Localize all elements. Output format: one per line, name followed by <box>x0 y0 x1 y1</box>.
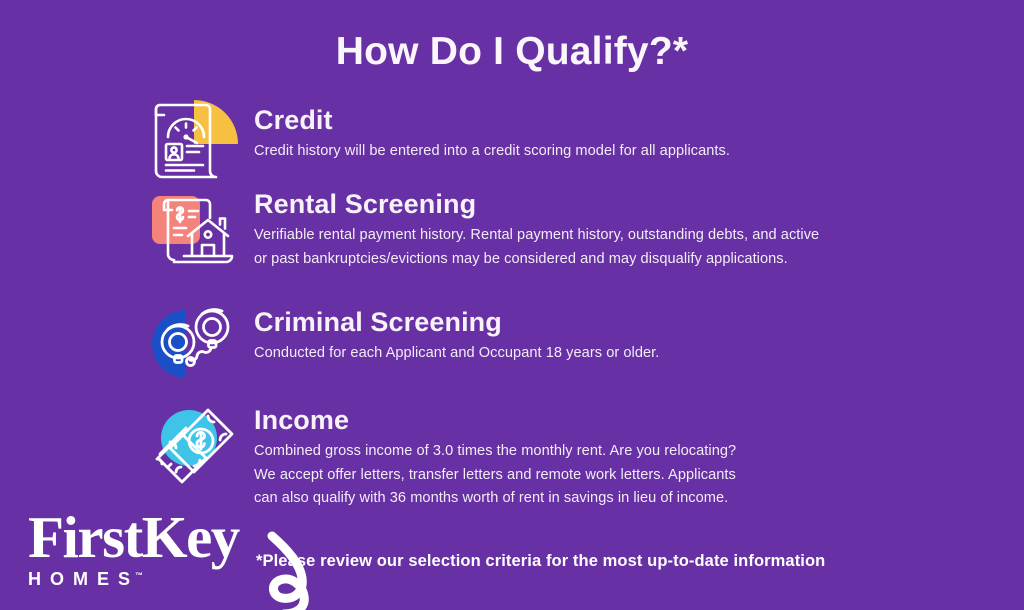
infographic-page: How Do I Qualify?* <box>0 0 1024 610</box>
selection-criteria-note: *Please review our selection criteria fo… <box>256 552 825 571</box>
description-line: or past bankruptcies/evictions may be co… <box>254 251 788 267</box>
description-line: We accept offer letters, transfer letter… <box>254 467 736 483</box>
section-description: Conducted for each Applicant and Occupan… <box>254 342 659 366</box>
trademark-symbol: ™ <box>135 571 143 580</box>
credit-report-gauge-icon <box>146 96 242 186</box>
logo-subtext-label: HOMES <box>28 569 139 589</box>
qualification-section-income: Income Combined gross income of 3.0 time… <box>146 396 736 511</box>
firstkey-homes-logo: FirstKey HOMES™ <box>28 506 288 610</box>
page-title: How Do I Qualify?* <box>0 30 1024 74</box>
logo-wordmark: FirstKey <box>28 506 288 568</box>
section-heading: Credit <box>254 106 730 134</box>
section-description: Combined gross income of 3.0 times the m… <box>254 440 736 511</box>
section-description: Verifiable rental payment history. Renta… <box>254 224 819 271</box>
rental-receipt-house-icon <box>146 182 242 272</box>
description-line: can also qualify with 36 months worth of… <box>254 490 728 506</box>
section-heading: Rental Screening <box>254 190 819 218</box>
qualification-section-criminal-screening: Criminal Screening Conducted for each Ap… <box>146 298 659 366</box>
description-line: Combined gross income of 3.0 times the m… <box>254 443 736 459</box>
banknotes-dollar-icon <box>146 396 242 486</box>
description-line: Conducted for each Applicant and Occupan… <box>254 345 659 361</box>
section-heading: Income <box>254 406 736 434</box>
description-line: Credit history will be entered into a cr… <box>254 143 730 159</box>
handcuffs-icon <box>146 298 242 388</box>
qualification-section-credit: Credit Credit history will be entered in… <box>146 96 730 164</box>
description-line: Verifiable rental payment history. Renta… <box>254 227 819 243</box>
qualification-section-rental-screening: Rental Screening Verifiable rental payme… <box>146 182 819 271</box>
section-description: Credit history will be entered into a cr… <box>254 140 730 164</box>
section-heading: Criminal Screening <box>254 308 659 336</box>
logo-subtext: HOMES™ <box>28 569 288 590</box>
